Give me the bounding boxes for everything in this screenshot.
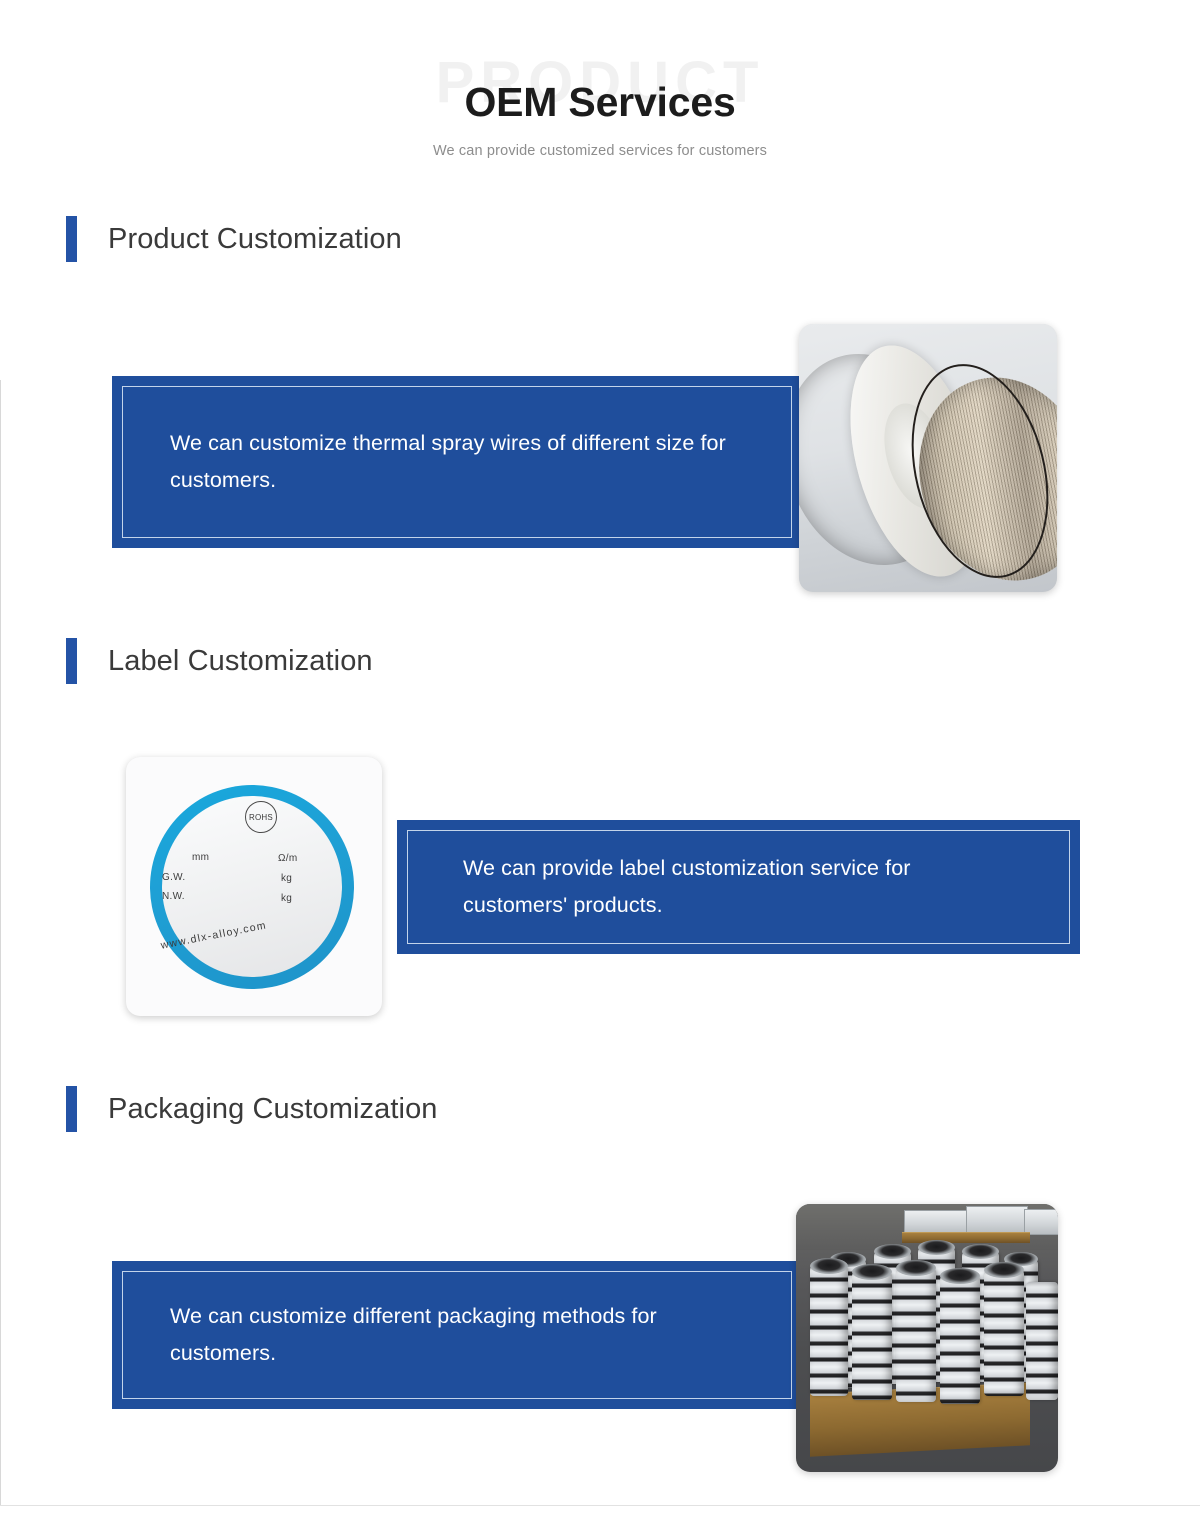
heading-accent-bar-icon	[66, 1086, 77, 1132]
wire-coil-top-icon	[940, 1268, 980, 1284]
left-edge-divider	[0, 380, 1, 1505]
page-header: PRODUCT OEM Services We can provide cust…	[0, 0, 1200, 185]
label-field-gross-weight: G.W.	[162, 872, 185, 883]
section-heading-product-customization: Product Customization	[66, 215, 402, 263]
statement-text: We can customize different packaging met…	[170, 1298, 690, 1372]
carton-stack-icon	[904, 1210, 968, 1234]
label-field-net-weight-unit: kg	[281, 893, 292, 904]
page-title: OEM Services	[0, 79, 1200, 126]
heading-accent-bar-icon	[66, 638, 77, 684]
statement-text: We can customize thermal spray wires of …	[170, 425, 730, 499]
wire-coil-top-icon	[874, 1244, 911, 1259]
label-field-net-weight: N.W.	[162, 891, 185, 902]
statement-inner-frame: We can provide label customization servi…	[407, 830, 1070, 944]
statement-inner-frame: We can customize thermal spray wires of …	[122, 386, 792, 538]
wire-coil-stack-icon	[984, 1270, 1024, 1396]
oem-services-page: PRODUCT OEM Services We can provide cust…	[0, 0, 1200, 1519]
statement-block-packaging-customization: We can customize different packaging met…	[112, 1261, 802, 1409]
label-field-resistance-unit: Ω/m	[278, 853, 297, 864]
wire-coil-stack-icon	[852, 1272, 892, 1400]
wire-coil-top-icon	[896, 1260, 936, 1276]
label-field-gross-weight-unit: kg	[281, 873, 292, 884]
photo-content	[799, 324, 1057, 592]
statement-inner-frame: We can customize different packaging met…	[122, 1271, 792, 1399]
section-heading-label-customization: Label Customization	[66, 637, 373, 685]
wire-coil-top-icon	[852, 1264, 892, 1280]
heading-accent-bar-icon	[66, 216, 77, 262]
section-heading-label: Product Customization	[108, 223, 402, 256]
wire-coil-top-icon	[918, 1240, 955, 1255]
wire-coil-top-icon	[984, 1262, 1024, 1278]
section-heading-label: Packaging Customization	[108, 1093, 438, 1126]
wire-coil-top-icon	[810, 1258, 848, 1274]
page-subtitle: We can provide customized services for c…	[0, 143, 1200, 159]
photo-content: ROHS mm G.W. N.W. Ω/m kg kg www.dlx-allo…	[126, 757, 382, 1016]
wire-coil-stack-icon	[896, 1268, 936, 1402]
section-heading-packaging-customization: Packaging Customization	[66, 1085, 438, 1133]
wooden-pallet-icon	[902, 1232, 1030, 1243]
photo-content	[796, 1204, 1058, 1472]
label-field-diameter-unit: mm	[192, 852, 209, 863]
statement-text: We can provide label customization servi…	[463, 850, 983, 924]
round-product-label-photo: ROHS mm G.W. N.W. Ω/m kg kg www.dlx-allo…	[126, 757, 382, 1016]
wire-coil-stack-icon	[1026, 1282, 1058, 1400]
palletized-wire-spool-packaging-photo	[796, 1204, 1058, 1472]
wire-coil-stack-icon	[940, 1276, 980, 1404]
wire-coil-top-icon	[962, 1244, 999, 1259]
statement-block-label-customization: We can provide label customization servi…	[397, 820, 1080, 954]
bottom-divider	[0, 1505, 1200, 1506]
statement-block-product-customization: We can customize thermal spray wires of …	[112, 376, 802, 548]
carton-stack-icon	[966, 1206, 1028, 1234]
rohs-badge-icon: ROHS	[245, 801, 277, 833]
thermal-spray-wire-spools-photo	[799, 324, 1057, 592]
wire-coil-stack-icon	[810, 1266, 848, 1396]
section-heading-label: Label Customization	[108, 645, 373, 678]
